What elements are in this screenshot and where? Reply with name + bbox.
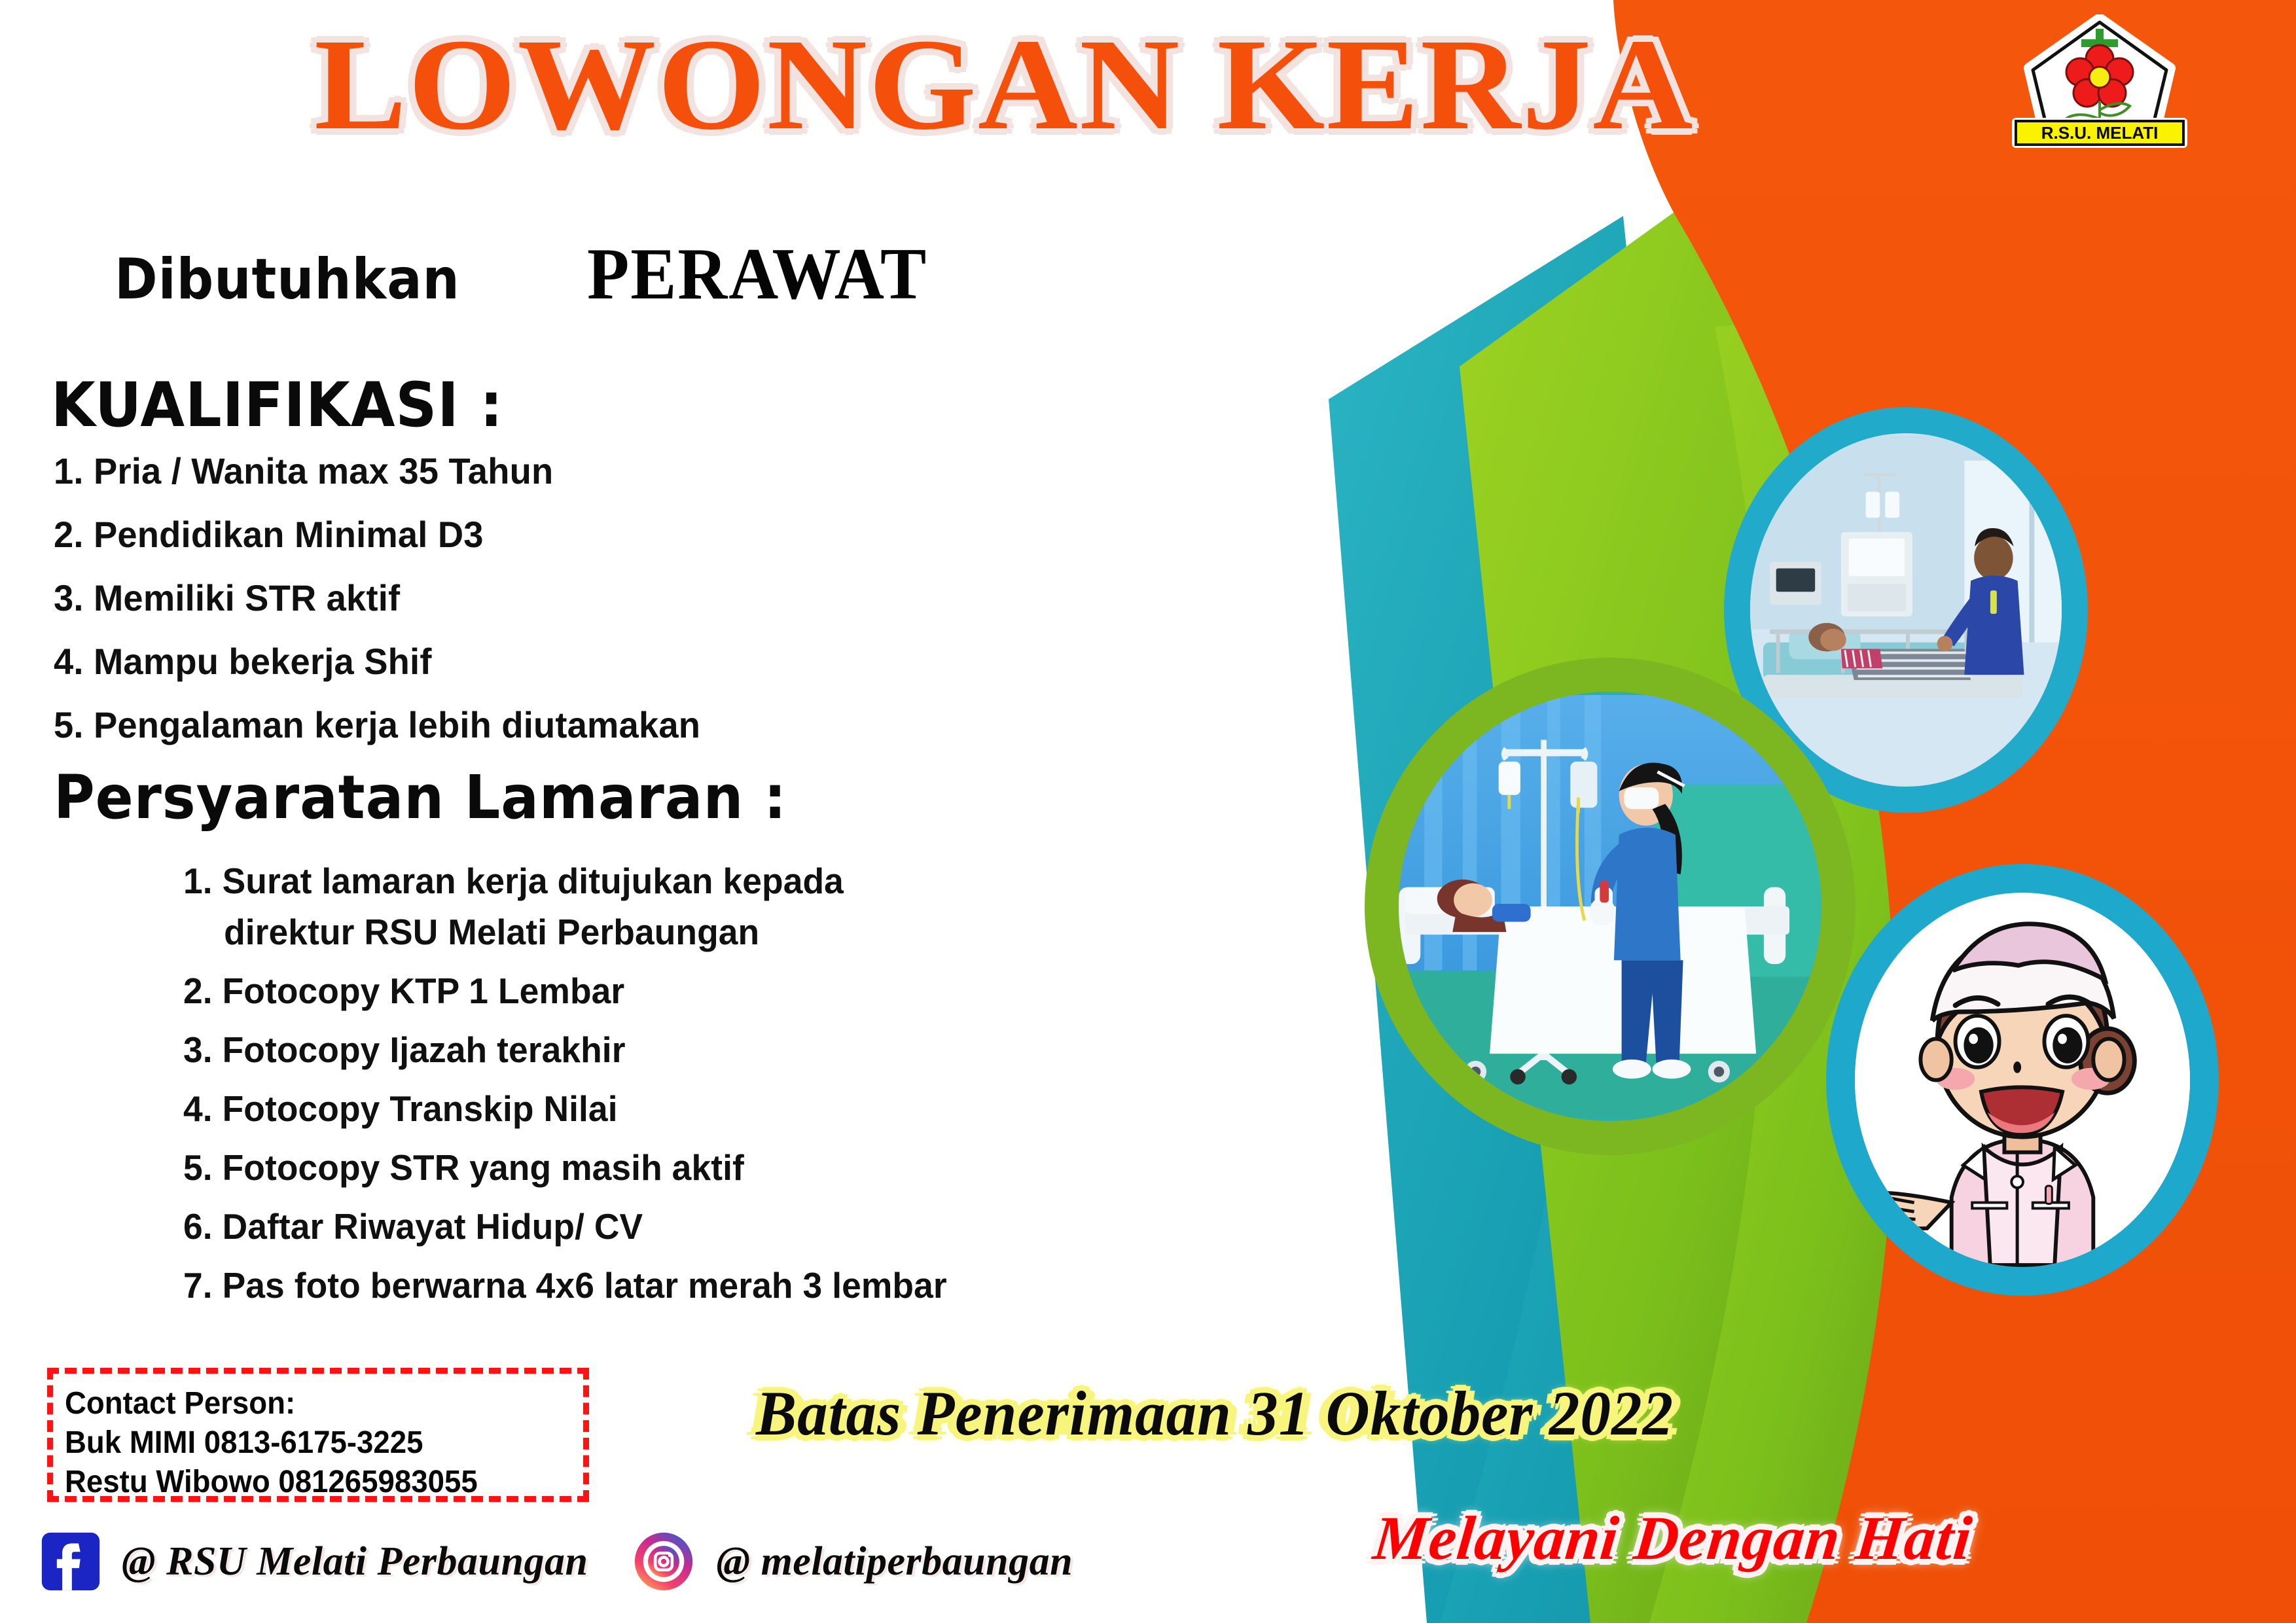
requirement-text: 4. Fotocopy Transkip Nilai (183, 1088, 618, 1129)
requirement-item: 2. Fotocopy KTP 1 Lembar (183, 971, 1199, 1011)
qualification-item: 2. Pendidikan Minimal D3 (54, 515, 911, 554)
requirement-text: 5. Fotocopy STR yang masih aktif (183, 1147, 744, 1188)
contact-heading: Contact Person: (65, 1384, 546, 1423)
requirement-item: 5. Fotocopy STR yang masih aktif (183, 1147, 1199, 1188)
page-title: LOWONGAN KERJA (314, 14, 1632, 165)
instagram-handle[interactable]: @ melatiperbaungan (716, 1539, 1073, 1585)
qualification-item: 4. Mampu bekerja Shif (54, 642, 911, 681)
facebook-handle[interactable]: @ RSU Melati Perbaungan (122, 1539, 588, 1585)
contact-person-box: Contact Person: Buk MIMI 0813-6175-3225 … (47, 1368, 589, 1502)
social-footer: @ RSU Melati Perbaungan @ (41, 1531, 1073, 1592)
contact-line-1: Buk MIMI 0813-6175-3225 (65, 1423, 546, 1463)
requirement-item: 3. Fotocopy Ijazah terakhir (183, 1029, 1199, 1070)
hospital-logo: R.S.U. MELATI (2001, 14, 2198, 152)
qualification-item: 5. Pengalaman kerja lebih diutamakan (54, 705, 911, 745)
requirement-item: 1. Surat lamaran kerja ditujukan kepadad… (183, 861, 1199, 952)
requirement-text: 6. Daftar Riwayat Hidup/ CV (183, 1206, 643, 1247)
tagline: Melayani Dengan Hati (1370, 1502, 1975, 1574)
needed-label: Dibutuhkan (115, 247, 460, 312)
illustration-nurse-iv-patient (1365, 658, 1856, 1155)
job-vacancy-poster: R.S.U. MELATI LOWONGAN KERJA Dibutuhkan … (0, 0, 2296, 1623)
role-title: PERAWAT (587, 232, 927, 317)
cartoon-nurse-avatar (1826, 864, 2219, 1296)
requirement-text: 7. Pas foto berwarna 4x6 latar merah 3 l… (183, 1265, 947, 1306)
logo-name-text: R.S.U. MELATI (2041, 123, 2159, 143)
qualifications-list: 1. Pria / Wanita max 35 Tahun2. Pendidik… (54, 452, 937, 769)
requirement-text: 2. Fotocopy KTP 1 Lembar (183, 971, 624, 1011)
requirement-item: 7. Pas foto berwarna 4x6 latar merah 3 l… (183, 1265, 1199, 1306)
qualifications-heading: KUALIFIKASI : (51, 370, 503, 441)
qualification-item: 3. Memiliki STR aktif (54, 579, 911, 618)
requirement-item: 4. Fotocopy Transkip Nilai (183, 1088, 1199, 1129)
deadline-banner: Batas Penerimaan 31 Oktober 2022 (756, 1378, 1674, 1450)
requirement-item: 6. Daftar Riwayat Hidup/ CV (183, 1206, 1199, 1247)
facebook-icon[interactable] (41, 1531, 101, 1592)
requirement-text: 3. Fotocopy Ijazah terakhir (183, 1029, 626, 1070)
requirements-heading: Persyaratan Lamaran : (54, 762, 787, 832)
vacancy-headline: Dibutuhkan PERAWAT (115, 232, 949, 317)
logo-name-banner: R.S.U. MELATI (2012, 118, 2187, 148)
instagram-icon[interactable] (634, 1531, 694, 1592)
requirement-continuation: direktur RSU Melati Perbaungan (183, 912, 1199, 952)
requirements-list: 1. Surat lamaran kerja ditujukan kepadad… (183, 861, 1230, 1324)
contact-line-2: Restu Wibowo 081265983055 (65, 1463, 546, 1502)
requirement-text: 1. Surat lamaran kerja ditujukan kepada (183, 861, 844, 901)
qualification-item: 1. Pria / Wanita max 35 Tahun (54, 452, 911, 491)
